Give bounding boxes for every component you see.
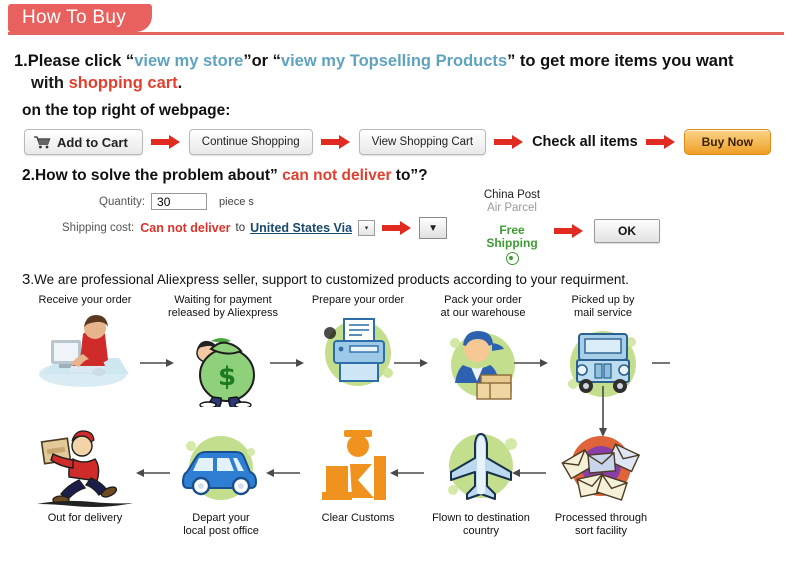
check-all-items-label: Check all items bbox=[532, 134, 638, 150]
flow-arrow-4 bbox=[514, 356, 548, 366]
step1-text-4: with bbox=[31, 74, 69, 92]
to-label: to bbox=[236, 222, 246, 234]
step1-paragraph-line2: with shopping cart. bbox=[31, 72, 786, 94]
checkout-button-row: Add to Cart Continue Shopping View Shopp… bbox=[24, 128, 786, 156]
order-flow-diagram: Receive your order bbox=[14, 294, 786, 566]
step1-text-5: . bbox=[178, 74, 183, 92]
free-shipping-badge: Free Shipping bbox=[466, 224, 558, 250]
flow-label-sort-facility: Processed through sort facility bbox=[542, 512, 660, 538]
arrow-right-icon-1 bbox=[151, 134, 181, 150]
arrow-right-icon-6 bbox=[554, 223, 584, 239]
flow-arrow-6 bbox=[266, 466, 300, 476]
arrow-right-icon-3 bbox=[494, 134, 524, 150]
continue-shopping-label: Continue Shopping bbox=[202, 136, 300, 148]
step3-text: .We are professional Aliexpress seller, … bbox=[30, 272, 629, 287]
step2-number: 2. bbox=[22, 167, 35, 184]
flow-arrow-3 bbox=[394, 356, 428, 366]
step1-text-2: ”or “ bbox=[243, 52, 281, 70]
flow-arrow-tail bbox=[652, 356, 674, 366]
envelope-sorting-icon bbox=[542, 424, 660, 510]
flow-node-prepare-order: Prepare your order bbox=[299, 294, 417, 395]
quantity-input[interactable]: 30 bbox=[151, 193, 207, 210]
flow-arrow-5 bbox=[136, 466, 170, 476]
arrow-right-icon-5 bbox=[382, 220, 412, 236]
can-not-deliver-highlight: can not deliver bbox=[282, 167, 391, 184]
step2-heading: 2.How to solve the problem about” can no… bbox=[22, 167, 786, 185]
flow-label-pack-order: Pack your order at our warehouse bbox=[424, 294, 542, 320]
shopping-cart-highlight: shopping cart bbox=[69, 74, 178, 92]
shipping-form: Quantity: 30 piece s Shipping cost: Can … bbox=[14, 191, 786, 269]
flow-label-receive-order: Receive your order bbox=[26, 294, 144, 307]
flow-node-depart-post-office: Depart your local post office bbox=[162, 424, 280, 538]
shipping-cost-value: Can not deliver bbox=[140, 221, 230, 235]
flow-label-waiting-payment: Waiting for payment released by Aliexpre… bbox=[164, 294, 282, 320]
header-tab: How To Buy bbox=[8, 4, 152, 32]
flow-label-clear-customs: Clear Customs bbox=[299, 512, 417, 525]
add-to-cart-button[interactable]: Add to Cart bbox=[24, 129, 143, 155]
flow-arrow-7 bbox=[390, 466, 424, 476]
quantity-label: Quantity: bbox=[99, 196, 145, 208]
person-at-computer-icon bbox=[26, 309, 144, 395]
step2-text-2: to”? bbox=[392, 167, 428, 184]
arrow-right-icon-2 bbox=[321, 134, 351, 150]
step3-heading: 3.We are professional Aliexpress seller,… bbox=[22, 271, 786, 288]
svg-text:$: $ bbox=[218, 362, 236, 392]
flow-node-waiting-payment: Waiting for payment released by Aliexpre… bbox=[164, 294, 282, 408]
arrow-right-icon-4 bbox=[646, 134, 676, 150]
flow-node-pack-order: Pack your order at our warehouse bbox=[424, 294, 542, 408]
step2-text-1: How to solve the problem about” bbox=[35, 167, 282, 184]
flow-arrow-2 bbox=[270, 356, 304, 366]
shipping-cost-label: Shipping cost: bbox=[62, 222, 134, 234]
free-shipping-line2: Shipping bbox=[466, 237, 558, 250]
running-courier-icon bbox=[26, 424, 144, 510]
carrier-info: China Post Air Parcel Free Shipping bbox=[466, 189, 558, 265]
carrier-service: Air Parcel bbox=[466, 202, 558, 215]
link-view-my-store[interactable]: view my store bbox=[134, 52, 243, 70]
continue-shopping-button[interactable]: Continue Shopping bbox=[189, 129, 313, 155]
flow-node-receive-order: Receive your order bbox=[26, 294, 144, 395]
step1-text-3: ” to get more items you want bbox=[507, 52, 733, 70]
flow-label-prepare-order: Prepare your order bbox=[299, 294, 417, 307]
flow-label-out-for-delivery: Out for delivery bbox=[26, 512, 144, 525]
flow-node-out-for-delivery: Out for delivery bbox=[26, 424, 144, 525]
destination-country-link[interactable]: United States Via bbox=[250, 221, 352, 235]
flow-node-flown-destination: Flown to destination country bbox=[422, 424, 540, 538]
flow-label-picked-up: Picked up by mail service bbox=[544, 294, 662, 320]
view-shopping-cart-button[interactable]: View Shopping Cart bbox=[359, 129, 486, 155]
carrier-name: China Post bbox=[466, 189, 558, 202]
buy-now-button[interactable]: Buy Now bbox=[684, 129, 771, 155]
shopping-cart-icon bbox=[33, 135, 51, 149]
ok-button-label: OK bbox=[618, 224, 636, 238]
shipping-cost-row: Shipping cost: Can not deliver to United… bbox=[62, 217, 447, 239]
page-header: How To Buy bbox=[0, 4, 800, 36]
piece-unit-label: piece s bbox=[219, 196, 254, 208]
flow-arrow-8 bbox=[512, 466, 546, 476]
add-to-cart-label: Add to Cart bbox=[57, 135, 128, 150]
free-shipping-radio-icon[interactable] bbox=[506, 252, 519, 265]
country-select-chevron-down-icon[interactable]: ▾ bbox=[358, 220, 375, 236]
flow-label-depart-post-office: Depart your local post office bbox=[162, 512, 280, 538]
printer-icon bbox=[299, 309, 417, 395]
link-view-topselling-products[interactable]: view my Topselling Products bbox=[281, 52, 507, 70]
flow-node-sort-facility: Processed through sort facility bbox=[542, 424, 660, 538]
delivery-van-icon bbox=[162, 424, 280, 510]
flow-label-flown-destination: Flown to destination country bbox=[422, 512, 540, 538]
shipping-method-dropdown[interactable]: ▼ bbox=[419, 217, 447, 239]
header-divider bbox=[8, 32, 784, 35]
page-title: How To Buy bbox=[22, 7, 126, 29]
ok-row: OK bbox=[554, 219, 660, 243]
quantity-row: Quantity: 30 piece s bbox=[99, 193, 254, 210]
step1-paragraph: 1.Please click “view my store”or “view m… bbox=[14, 50, 786, 72]
ok-button[interactable]: OK bbox=[594, 219, 660, 243]
view-shopping-cart-label: View Shopping Cart bbox=[372, 136, 473, 148]
money-bag-icon: $ bbox=[164, 322, 282, 408]
flow-arrow-1 bbox=[140, 356, 174, 366]
buy-now-label: Buy Now bbox=[702, 135, 753, 149]
step1-number: 1. bbox=[14, 52, 28, 70]
step1-subtitle: on the top right of webpage: bbox=[22, 102, 786, 120]
step1-text-1: Please click “ bbox=[28, 52, 134, 70]
